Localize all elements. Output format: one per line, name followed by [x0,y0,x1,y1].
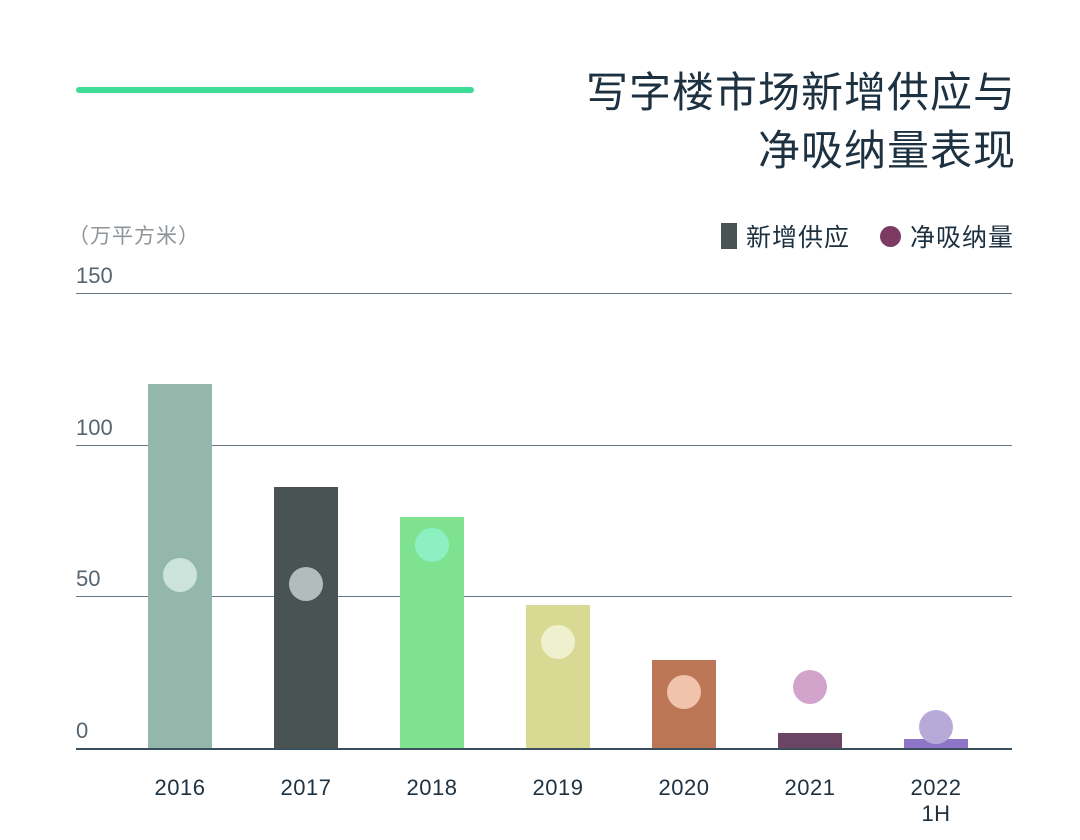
page-title: 写字楼市场新增供应与 净吸纳量表现 [500,64,1016,180]
legend-label-new-supply: 新增供应 [746,218,850,254]
x-tick-label-2016: 2016 [155,775,206,801]
chart-legend: 新增供应 净吸纳量 [721,218,1014,254]
x-tick-label-2021: 2021 [785,775,836,801]
point-2017[interactable] [289,567,323,601]
point-2019[interactable] [541,625,575,659]
office-market-chart: 写字楼市场新增供应与 净吸纳量表现 （万平方米） 新增供应 净吸纳量 05010… [0,0,1080,840]
legend-label-net-absorption: 净吸纳量 [910,218,1014,254]
x-tick-label-2018: 2018 [407,775,458,801]
point-2021[interactable] [793,670,827,704]
x-tick-label-2022-1H: 2022 1H [898,775,974,827]
x-tick-label-2019: 2019 [533,775,584,801]
point-2018[interactable] [415,528,449,562]
legend-item-net-absorption[interactable]: 净吸纳量 [880,218,1014,254]
point-2022-1H[interactable] [919,710,953,744]
bar-2021[interactable] [778,733,842,748]
accent-rule [76,87,474,93]
x-axis-labels: 2016201720182019202020212022 1H [76,775,1012,805]
x-tick-label-2020: 2020 [659,775,710,801]
y-axis-unit-label: （万平方米） [68,220,200,250]
gridline-0 [76,748,1012,750]
x-tick-label-2017: 2017 [281,775,332,801]
bar-2017[interactable] [274,487,338,748]
legend-item-new-supply[interactable]: 新增供应 [721,218,850,254]
legend-square-icon [721,223,737,249]
bars-and-points [76,265,1012,748]
point-2016[interactable] [163,558,197,592]
legend-circle-icon [880,226,901,247]
plot-area: 050100150 [76,265,1012,755]
point-2020[interactable] [667,675,701,709]
